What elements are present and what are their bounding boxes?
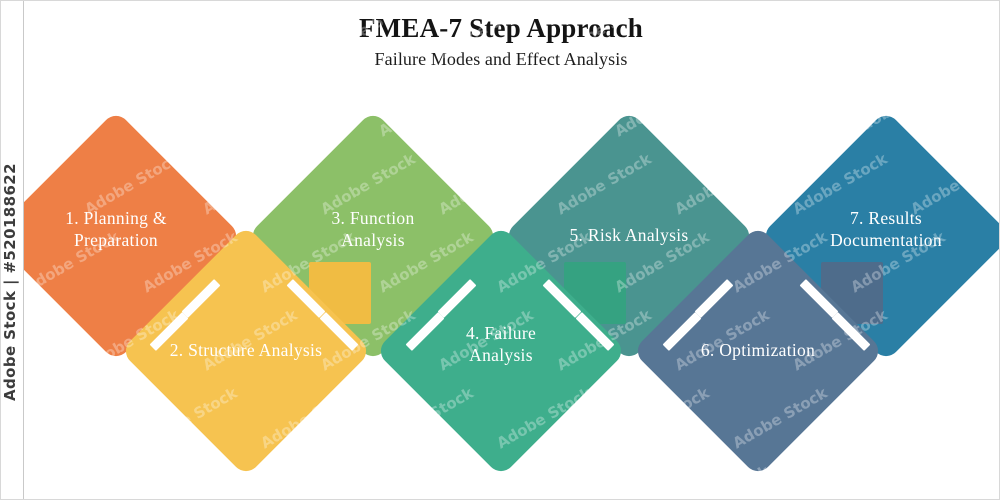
watermark-tile: Adobe Stock [730, 72, 831, 141]
watermark-tile: Adobe Stock [966, 384, 1000, 453]
watermark-tile: Adobe Stock [258, 72, 359, 141]
stock-id-rail: Adobe Stock | #520188622 [1, 1, 24, 500]
watermark-tile: Adobe Stock [908, 462, 1000, 500]
watermark-tile: Adobe Stock [140, 72, 241, 141]
watermark-tile: Adobe Stock [966, 72, 1000, 141]
page-title: FMEA-7 Step Approach [1, 13, 1000, 44]
watermark-tile: Adobe Stock [494, 72, 595, 141]
infographic-canvas: 1. Planning &Preparation2. Structure Ana… [0, 0, 1000, 500]
header-block: FMEA-7 Step Approach Failure Modes and E… [1, 1, 1000, 70]
stock-id-label: Adobe Stock | #520188622 [1, 61, 19, 401]
watermark-tile: Adobe Stock [790, 462, 891, 500]
watermark-tile: Adobe Stock [848, 384, 949, 453]
page-subtitle: Failure Modes and Effect Analysis [1, 49, 1000, 70]
watermark-tile: Adobe Stock [82, 462, 183, 500]
watermark-tile: Adobe Stock [554, 462, 655, 500]
watermark-tile: Adobe Stock [318, 462, 419, 500]
watermark-tile: Adobe Stock [436, 462, 537, 500]
watermark-tile: Adobe Stock [22, 384, 123, 453]
